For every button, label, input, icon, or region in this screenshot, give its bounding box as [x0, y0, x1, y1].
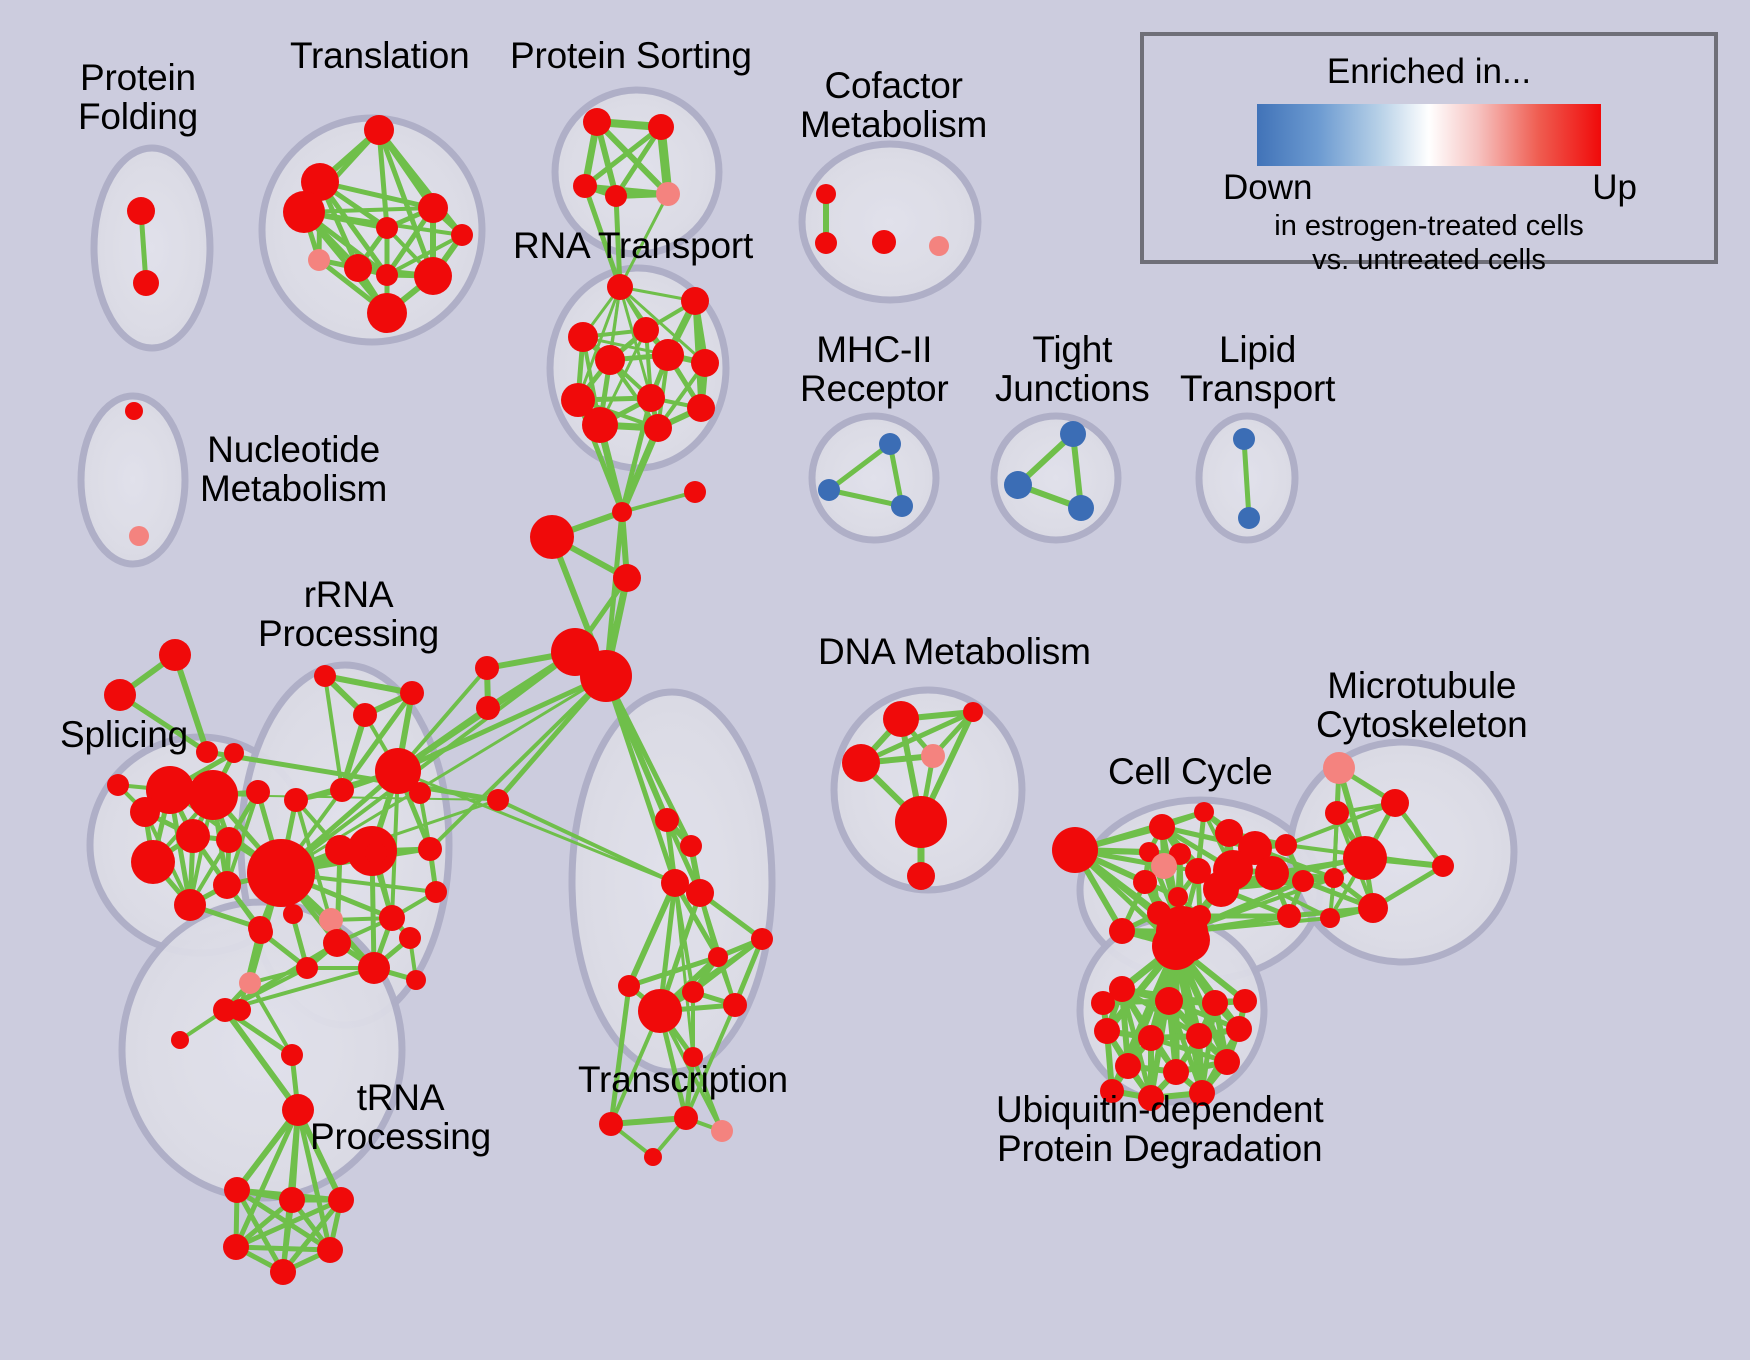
network-node[interactable] — [1068, 495, 1094, 521]
cluster-label-mhc-ii-receptor: MHC-II Receptor — [800, 330, 949, 408]
cluster-ellipse-mhc-ii-receptor — [812, 416, 936, 540]
network-node[interactable] — [691, 349, 719, 377]
network-node[interactable] — [223, 1234, 249, 1260]
network-node[interactable] — [644, 1148, 662, 1166]
network-node[interactable] — [599, 1112, 623, 1136]
network-node[interactable] — [883, 701, 919, 737]
network-node[interactable] — [1115, 1053, 1141, 1079]
network-node[interactable] — [127, 197, 155, 225]
network-node[interactable] — [414, 257, 452, 295]
network-node[interactable] — [1381, 789, 1409, 817]
network-node[interactable] — [1214, 1049, 1240, 1075]
network-node[interactable] — [1168, 887, 1188, 907]
network-node[interactable] — [684, 481, 706, 503]
cluster-label-splicing: Splicing — [60, 715, 188, 754]
network-node[interactable] — [246, 780, 270, 804]
network-node[interactable] — [308, 249, 330, 271]
legend-panel: Enriched in... Down Up in estrogen-treat… — [1140, 32, 1718, 264]
network-node[interactable] — [367, 293, 407, 333]
network-node[interactable] — [325, 835, 355, 865]
network-node[interactable] — [314, 665, 336, 687]
network-node[interactable] — [130, 797, 160, 827]
network-node[interactable] — [376, 217, 398, 239]
network-node[interactable] — [929, 236, 949, 256]
legend-endpoints: Down Up — [1229, 168, 1629, 208]
network-node[interactable] — [224, 743, 244, 763]
cluster-label-cofactor-metabolism: Cofactor Metabolism — [800, 66, 987, 144]
legend-high-label: Up — [1592, 168, 1637, 208]
network-node[interactable] — [1151, 853, 1177, 879]
cluster-label-rrna-processing: rRNA Processing — [258, 575, 439, 653]
network-node[interactable] — [131, 840, 175, 884]
network-node[interactable] — [216, 827, 242, 853]
network-node[interactable] — [818, 479, 840, 501]
network-node[interactable] — [652, 339, 684, 371]
network-node[interactable] — [595, 345, 625, 375]
network-node[interactable] — [213, 998, 237, 1022]
cluster-label-trna-processing: tRNA Processing — [310, 1078, 491, 1156]
network-node[interactable] — [1255, 856, 1289, 890]
network-node[interactable] — [1215, 819, 1243, 847]
network-node[interactable] — [279, 1187, 305, 1213]
network-node[interactable] — [879, 433, 901, 455]
network-node[interactable] — [319, 908, 343, 932]
legend-caption-line-2: vs. untreated cells — [1144, 244, 1714, 276]
cluster-label-tight-junctions: Tight Junctions — [995, 330, 1150, 408]
network-node[interactable] — [583, 108, 611, 136]
network-node[interactable] — [1320, 908, 1340, 928]
network-node[interactable] — [317, 1237, 343, 1263]
network-node[interactable] — [582, 407, 618, 443]
network-node[interactable] — [656, 182, 680, 206]
network-node[interactable] — [723, 993, 747, 1017]
network-node[interactable] — [247, 839, 315, 907]
network-node[interactable] — [1226, 1016, 1252, 1042]
network-node[interactable] — [125, 402, 143, 420]
cluster-label-rna-transport: RNA Transport — [513, 226, 753, 265]
network-node[interactable] — [895, 796, 947, 848]
cluster-label-dna-metabolism: DNA Metabolism — [818, 632, 1091, 671]
network-node[interactable] — [842, 744, 880, 782]
network-node[interactable] — [296, 957, 318, 979]
network-node[interactable] — [1138, 1025, 1164, 1051]
network-node[interactable] — [1324, 868, 1344, 888]
cluster-label-ubiquitin-protein-degradation: Ubiquitin-dependent Protein Degradation — [996, 1090, 1323, 1168]
network-node[interactable] — [1186, 1023, 1212, 1049]
network-edge — [236, 1247, 330, 1250]
network-edge — [398, 676, 606, 771]
network-node[interactable] — [891, 495, 913, 517]
network-node[interactable] — [376, 264, 398, 286]
network-node[interactable] — [425, 881, 447, 903]
network-node[interactable] — [638, 989, 682, 1033]
network-node[interactable] — [1155, 987, 1183, 1015]
network-node[interactable] — [399, 927, 421, 949]
network-node[interactable] — [1091, 991, 1115, 1015]
network-node[interactable] — [618, 975, 640, 997]
network-node[interactable] — [1358, 893, 1388, 923]
network-node[interactable] — [1233, 428, 1255, 450]
network-node[interactable] — [682, 981, 704, 1003]
network-node[interactable] — [605, 185, 627, 207]
network-node[interactable] — [400, 681, 424, 705]
network-node[interactable] — [1323, 752, 1355, 784]
network-node[interactable] — [159, 639, 191, 671]
network-node[interactable] — [674, 1106, 698, 1130]
network-node[interactable] — [655, 808, 679, 832]
cluster-label-microtubule-cytoskeleton: Microtubule Cytoskeleton — [1316, 666, 1528, 744]
network-node[interactable] — [104, 679, 136, 711]
legend-title: Enriched in... — [1144, 52, 1714, 92]
network-node[interactable] — [633, 317, 659, 343]
network-node[interactable] — [1233, 989, 1257, 1013]
network-node[interactable] — [379, 905, 405, 931]
network-node[interactable] — [270, 1259, 296, 1285]
cluster-label-protein-sorting: Protein Sorting — [510, 36, 752, 75]
network-node[interactable] — [1094, 1018, 1120, 1044]
network-node[interactable] — [568, 322, 598, 352]
network-node[interactable] — [1325, 801, 1349, 825]
network-node[interactable] — [196, 741, 218, 763]
network-node[interactable] — [1202, 990, 1228, 1016]
network-node[interactable] — [1163, 1059, 1189, 1085]
network-node[interactable] — [409, 782, 431, 804]
network-node[interactable] — [129, 526, 149, 546]
network-node[interactable] — [580, 650, 632, 702]
network-node[interactable] — [418, 837, 442, 861]
network-node[interactable] — [708, 947, 728, 967]
network-node[interactable] — [344, 254, 372, 282]
network-node[interactable] — [176, 819, 210, 853]
network-node[interactable] — [1133, 870, 1157, 894]
network-node[interactable] — [661, 869, 689, 897]
cluster-ellipse-protein-folding — [94, 148, 210, 348]
cluster-label-transcription: Transcription — [578, 1060, 788, 1099]
network-node[interactable] — [281, 1044, 303, 1066]
network-node[interactable] — [644, 414, 672, 442]
network-node[interactable] — [816, 184, 836, 204]
network-node[interactable] — [323, 929, 351, 957]
network-node[interactable] — [487, 789, 509, 811]
network-node[interactable] — [612, 502, 632, 522]
network-node[interactable] — [686, 879, 714, 907]
network-node[interactable] — [907, 862, 935, 890]
network-node[interactable] — [174, 889, 206, 921]
network-node[interactable] — [213, 871, 241, 899]
network-node[interactable] — [751, 928, 773, 950]
legend-color-bar — [1257, 104, 1601, 166]
network-node[interactable] — [1052, 827, 1098, 873]
network-node[interactable] — [1004, 471, 1032, 499]
network-node[interactable] — [283, 904, 303, 924]
network-node[interactable] — [711, 1120, 733, 1142]
network-node[interactable] — [406, 970, 426, 990]
network-node[interactable] — [224, 1177, 250, 1203]
network-node[interactable] — [637, 384, 665, 412]
network-node[interactable] — [476, 696, 500, 720]
network-node[interactable] — [1149, 814, 1175, 840]
network-node[interactable] — [1343, 836, 1387, 880]
network-node[interactable] — [364, 115, 394, 145]
cluster-label-protein-folding: Protein Folding — [78, 58, 198, 136]
network-node[interactable] — [815, 232, 837, 254]
cluster-label-lipid-transport: Lipid Transport — [1180, 330, 1335, 408]
network-node[interactable] — [1275, 834, 1297, 856]
network-node[interactable] — [530, 515, 574, 559]
cluster-label-translation: Translation — [290, 36, 469, 75]
network-node[interactable] — [418, 193, 448, 223]
network-node[interactable] — [607, 274, 633, 300]
network-node[interactable] — [284, 788, 308, 812]
network-node[interactable] — [283, 191, 325, 233]
network-node[interactable] — [613, 564, 641, 592]
network-node[interactable] — [1432, 855, 1454, 877]
network-node[interactable] — [330, 778, 354, 802]
network-node[interactable] — [475, 656, 499, 680]
network-node[interactable] — [107, 774, 129, 796]
cluster-label-cell-cycle: Cell Cycle — [1108, 752, 1273, 791]
network-node[interactable] — [188, 770, 238, 820]
legend-caption-line-1: in estrogen-treated cells — [1144, 210, 1714, 242]
network-node[interactable] — [1238, 507, 1260, 529]
network-node[interactable] — [1203, 871, 1239, 907]
network-node[interactable] — [1060, 421, 1086, 447]
network-node[interactable] — [239, 972, 261, 994]
network-node[interactable] — [328, 1187, 354, 1213]
network-node[interactable] — [872, 230, 896, 254]
network-node[interactable] — [687, 394, 715, 422]
network-figure: Protein FoldingTranslationProtein Sortin… — [0, 0, 1750, 1360]
network-node[interactable] — [365, 842, 387, 864]
network-node[interactable] — [1292, 870, 1314, 892]
network-node[interactable] — [963, 702, 983, 722]
network-node[interactable] — [249, 920, 273, 944]
network-node[interactable] — [353, 703, 377, 727]
network-node[interactable] — [921, 744, 945, 768]
network-node[interactable] — [648, 114, 674, 140]
network-node[interactable] — [451, 224, 473, 246]
cluster-label-nucleotide-metabolism: Nucleotide Metabolism — [200, 430, 387, 508]
network-node[interactable] — [171, 1031, 189, 1049]
network-node[interactable] — [680, 835, 702, 857]
legend-low-label: Down — [1223, 168, 1312, 208]
network-node[interactable] — [358, 952, 390, 984]
network-node[interactable] — [681, 287, 709, 315]
network-node[interactable] — [133, 270, 159, 296]
network-node[interactable] — [1152, 922, 1200, 970]
network-node[interactable] — [1109, 918, 1135, 944]
network-node[interactable] — [1194, 802, 1214, 822]
network-node[interactable] — [1277, 904, 1301, 928]
network-node[interactable] — [573, 174, 597, 198]
